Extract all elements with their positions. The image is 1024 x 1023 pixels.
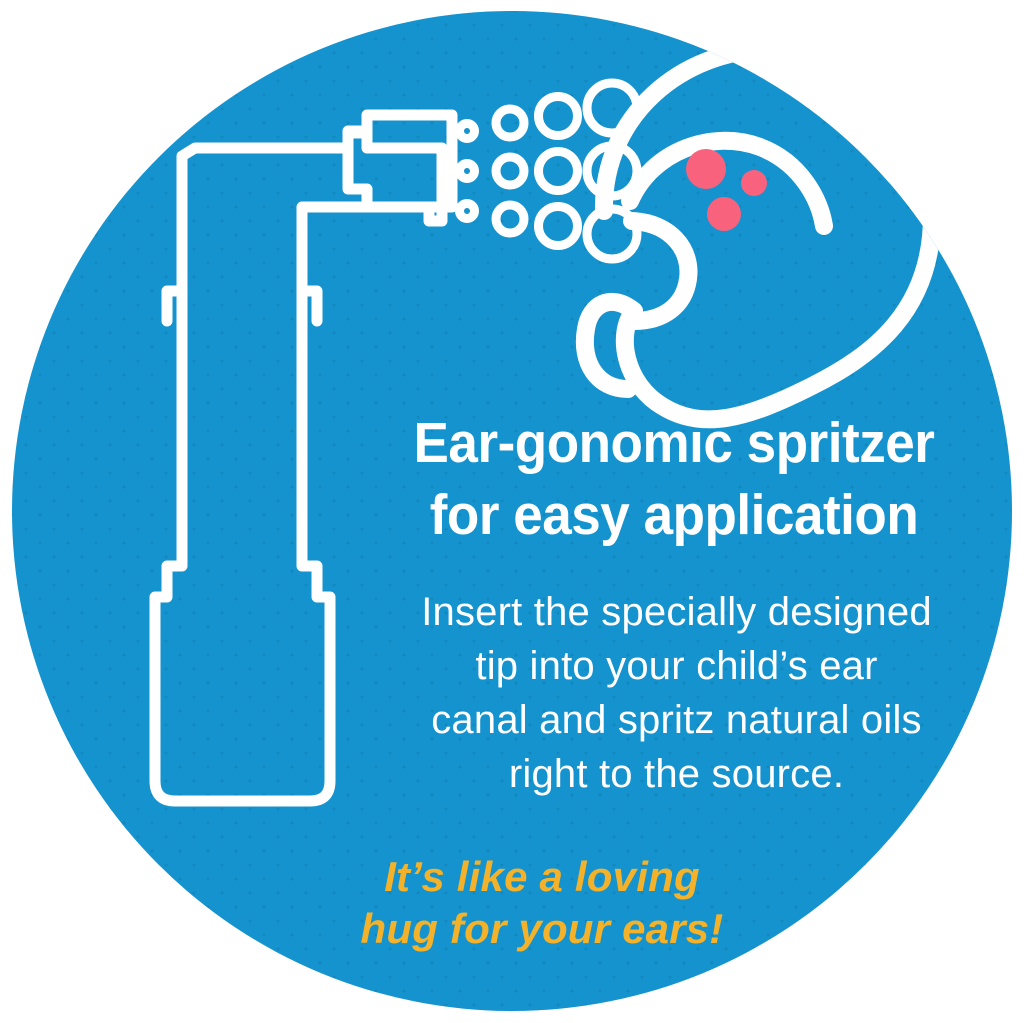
body-line-1: Insert the specially designed [384,585,969,639]
spray-nozzle-icon [348,115,452,207]
body-line-4: right to the source. [384,747,969,801]
spray-bottle-neck-detail [167,291,317,321]
blue-circle-badge: Ear-gonomic spritzer for easy applicatio… [12,11,1012,1011]
body-line-3: canal and spritz natural oils [384,693,969,747]
body-copy: Insert the specially designed tip into y… [384,585,969,801]
ear-dot-medium [707,197,741,231]
tagline-line-2: hug for your ears! [312,903,772,955]
headline-line-1: Ear-gonomic spritzer [386,407,963,479]
tagline-line-1: It’s like a loving [312,851,772,903]
body-line-2: tip into your child’s ear [384,639,969,693]
headline-line-2: for easy application [386,479,963,551]
badge-canvas: Ear-gonomic spritzer for easy applicatio… [0,0,1024,1023]
headline: Ear-gonomic spritzer for easy applicatio… [386,407,963,551]
ear-dot-large [686,149,726,189]
tagline: It’s like a loving hug for your ears! [312,851,772,955]
ear-dot-small [741,170,767,196]
ear-dots-group [686,149,767,231]
